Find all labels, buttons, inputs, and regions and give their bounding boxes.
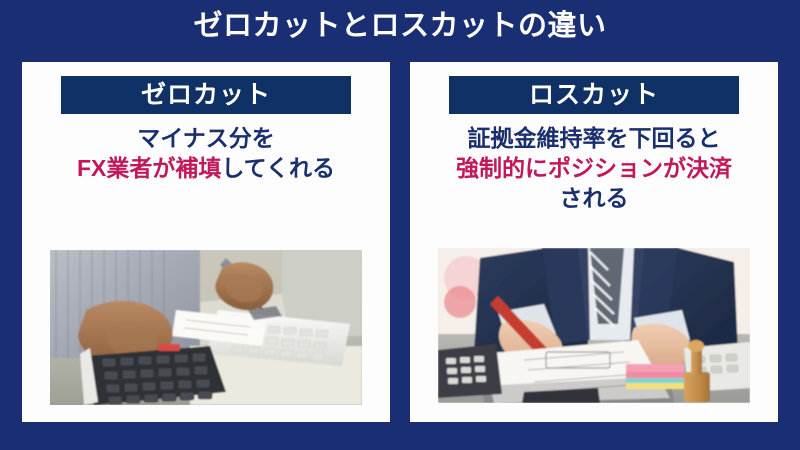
body-text: される <box>560 185 629 211</box>
highlight-text: FX業者が補填 <box>77 155 221 181</box>
highlight-text: 強制的にポジションが決済 <box>456 155 732 181</box>
card-body-line: 証拠金維持率を下回ると <box>424 123 764 153</box>
body-text: 証拠金維持率を下回ると <box>468 125 721 151</box>
card-badge-loss-cut: ロスカット <box>449 76 739 114</box>
card-body-line: 強制的にポジションが決済 <box>424 153 764 183</box>
photo-businessman-signing <box>438 248 750 403</box>
body-text: マイナス分を <box>137 125 275 151</box>
card-body-line: FX業者が補填してくれる <box>36 153 376 183</box>
card-zero-cut: ゼロカット マイナス分をFX業者が補填してくれる <box>22 62 390 422</box>
page-title: ゼロカットとロスカットの違い <box>0 9 800 43</box>
comparison-cards: ゼロカット マイナス分をFX業者が補填してくれる <box>22 62 778 422</box>
card-body-loss-cut: 証拠金維持率を下回ると強制的にポジションが決済される <box>424 123 764 213</box>
photo-calculator-writing <box>50 250 362 405</box>
card-body-line: マイナス分を <box>36 123 376 153</box>
card-body-zero-cut: マイナス分をFX業者が補填してくれる <box>36 123 376 183</box>
card-loss-cut: ロスカット 証拠金維持率を下回ると強制的にポジションが決済される <box>410 62 778 422</box>
body-text: してくれる <box>221 155 335 181</box>
infographic-root: ゼロカットとロスカットの違い ゼロカット マイナス分をFX業者が補填してくれる <box>0 0 800 450</box>
card-body-line: される <box>424 183 764 213</box>
card-badge-zero-cut: ゼロカット <box>61 76 351 114</box>
